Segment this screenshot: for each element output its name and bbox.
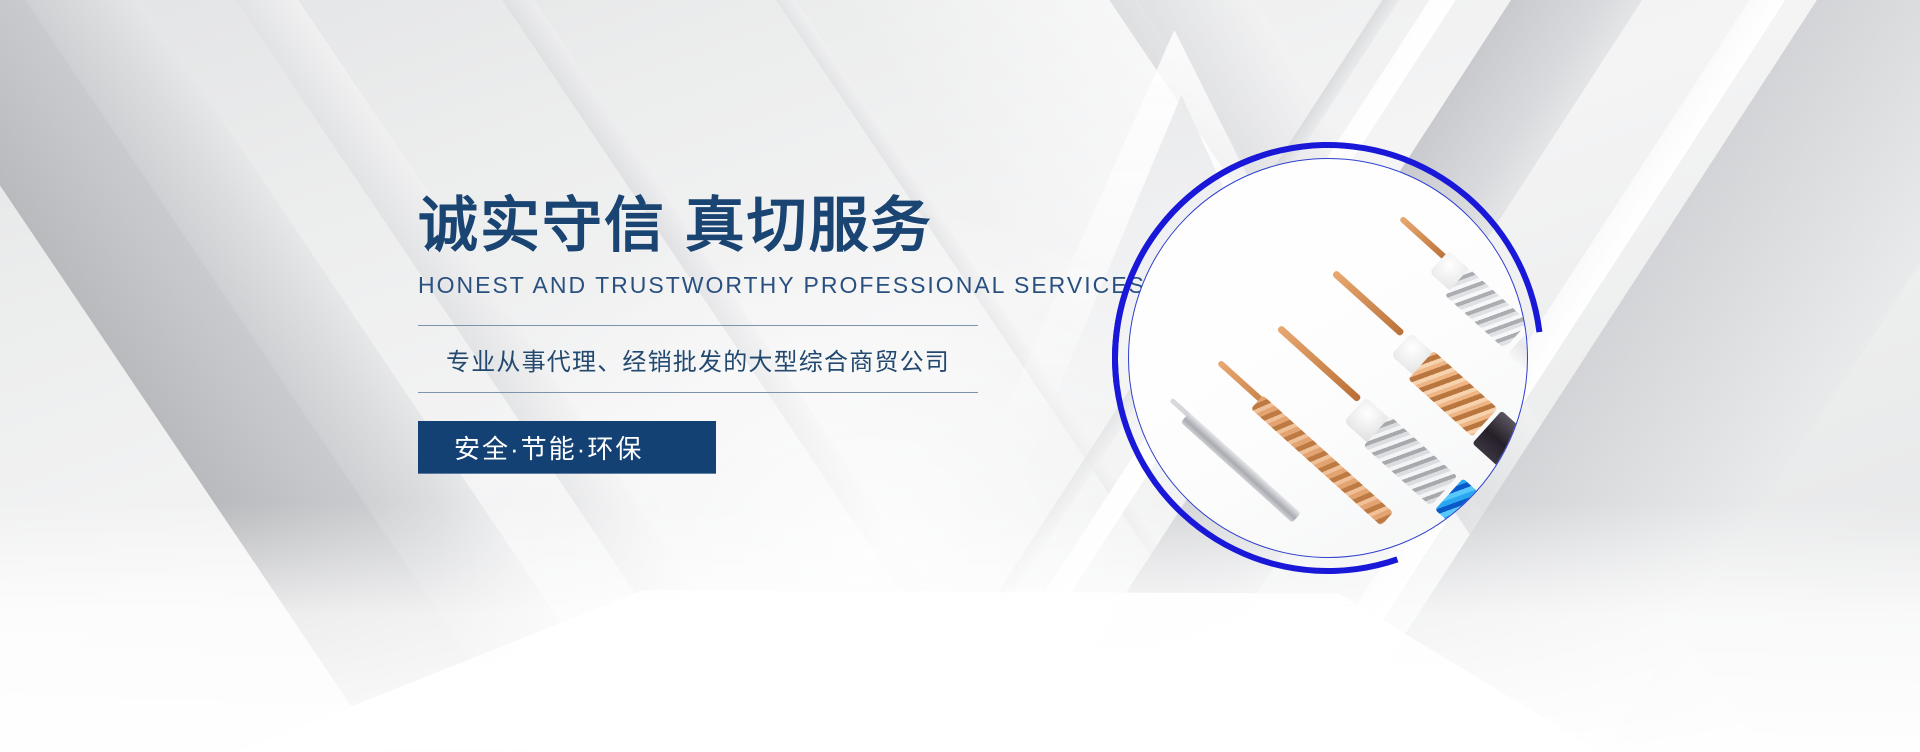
description-rule-box: 专业从事代理、经销批发的大型综合商贸公司 <box>418 325 978 393</box>
ribbon-label: 安全·节能·环保 <box>454 421 643 474</box>
floor-gradient <box>0 502 1920 752</box>
subtitle-english: HONEST AND TRUSTWORTHY PROFESSIONAL SERV… <box>418 272 1038 299</box>
photo-accent-arc-bottom <box>1039 69 1617 647</box>
description-text: 专业从事代理、经销批发的大型综合商贸公司 <box>418 342 978 377</box>
page-title: 诚实守信 真切服务 <box>418 194 1038 258</box>
hero-banner: 诚实守信 真切服务 HONEST AND TRUSTWORTHY PROFESS… <box>0 0 1920 752</box>
feature-ribbon: 安全·节能·环保 <box>418 421 716 474</box>
hero-text-block: 诚实守信 真切服务 HONEST AND TRUSTWORTHY PROFESS… <box>418 194 1038 474</box>
product-photo-circle: /\|/\ — \^ <box>1128 158 1528 558</box>
floor-highlight <box>150 572 1600 752</box>
